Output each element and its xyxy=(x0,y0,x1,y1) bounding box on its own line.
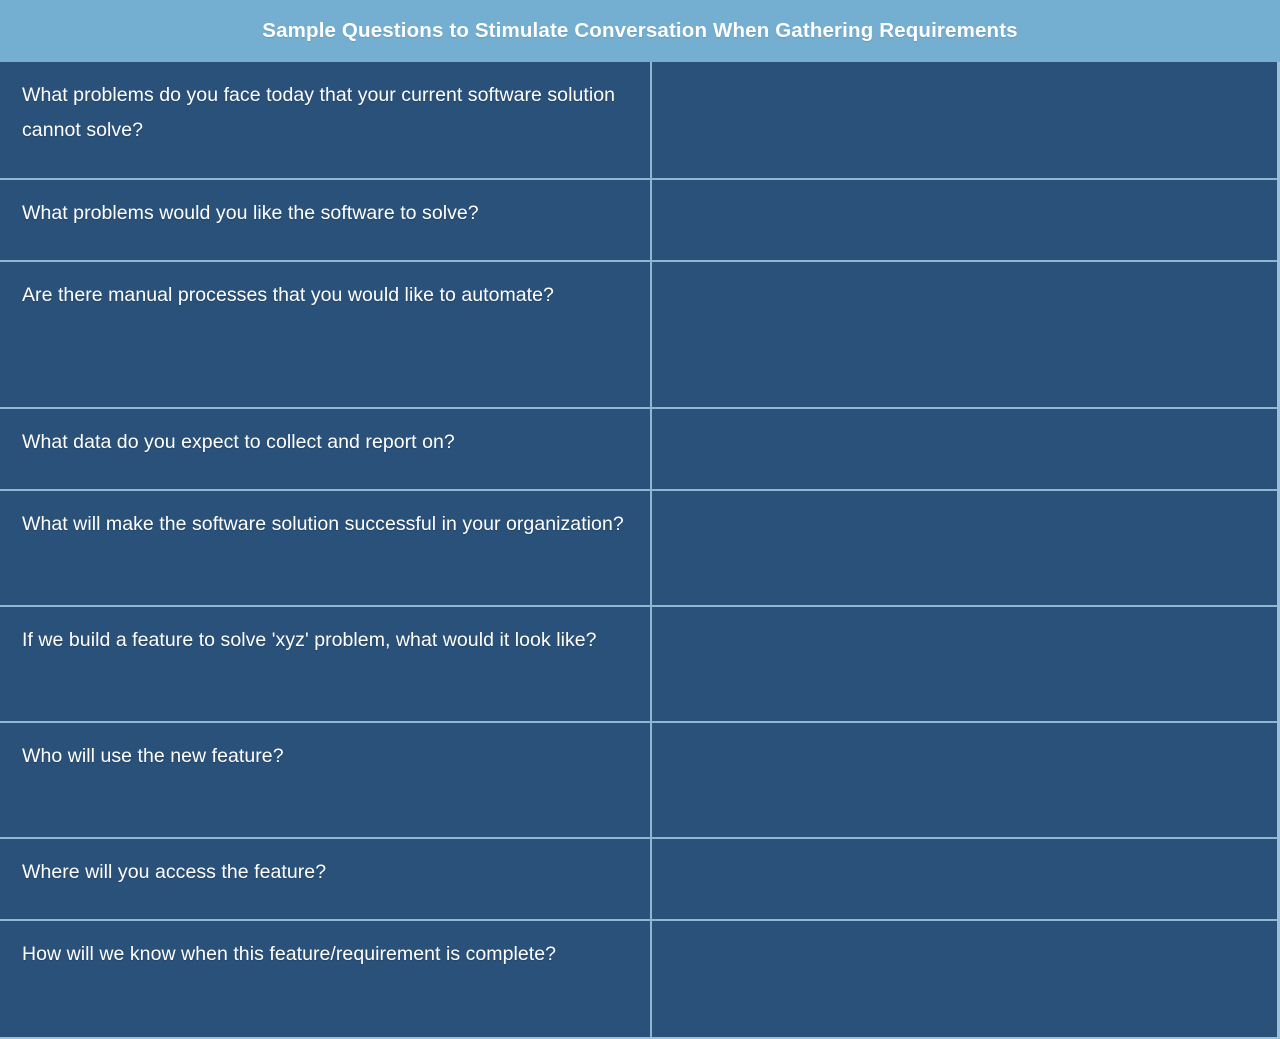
answer-cell[interactable] xyxy=(652,409,1277,489)
table-row[interactable]: What problems would you like the softwar… xyxy=(0,180,1277,262)
table-row[interactable]: Are there manual processes that you woul… xyxy=(0,262,1277,409)
question-cell: Where will you access the feature? xyxy=(0,839,652,919)
table-row[interactable]: Who will use the new feature? xyxy=(0,723,1277,839)
requirements-question-table: Sample Questions to Stimulate Conversati… xyxy=(0,0,1280,1039)
table-row[interactable]: What problems do you face today that you… xyxy=(0,62,1277,180)
question-cell: What data do you expect to collect and r… xyxy=(0,409,652,489)
answer-cell[interactable] xyxy=(652,921,1277,1037)
table-row[interactable]: Where will you access the feature? xyxy=(0,839,1277,921)
table-body: What problems do you face today that you… xyxy=(0,62,1280,1039)
question-cell: Who will use the new feature? xyxy=(0,723,652,837)
question-cell: What will make the software solution suc… xyxy=(0,491,652,605)
question-cell: If we build a feature to solve 'xyz' pro… xyxy=(0,607,652,721)
question-cell: What problems do you face today that you… xyxy=(0,62,652,178)
table-row[interactable]: If we build a feature to solve 'xyz' pro… xyxy=(0,607,1277,723)
answer-cell[interactable] xyxy=(652,723,1277,837)
answer-cell[interactable] xyxy=(652,262,1277,407)
answer-cell[interactable] xyxy=(652,839,1277,919)
answer-cell[interactable] xyxy=(652,180,1277,260)
question-cell: How will we know when this feature/requi… xyxy=(0,921,652,1037)
table-title: Sample Questions to Stimulate Conversati… xyxy=(0,0,1280,62)
answer-cell[interactable] xyxy=(652,607,1277,721)
table-row[interactable]: What data do you expect to collect and r… xyxy=(0,409,1277,491)
table-row[interactable]: What will make the software solution suc… xyxy=(0,491,1277,607)
answer-cell[interactable] xyxy=(652,491,1277,605)
question-cell: Are there manual processes that you woul… xyxy=(0,262,652,407)
table-row[interactable]: How will we know when this feature/requi… xyxy=(0,921,1277,1037)
question-cell: What problems would you like the softwar… xyxy=(0,180,652,260)
answer-cell[interactable] xyxy=(652,62,1277,178)
